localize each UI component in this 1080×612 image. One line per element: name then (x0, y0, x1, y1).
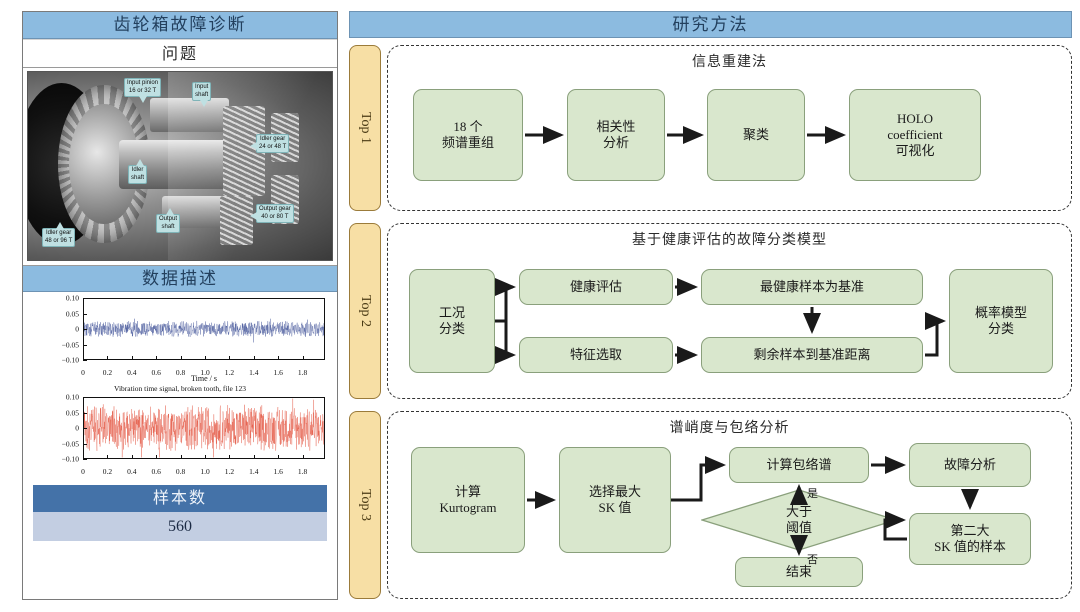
edge-label-yes: 是 (807, 485, 818, 501)
callout-tail-icon (166, 208, 174, 215)
x-tick-mark (278, 356, 279, 360)
decision-threshold[interactable]: 大于阈值 (701, 489, 897, 551)
y-tick-mark (83, 298, 87, 299)
callout-tail-icon (250, 142, 257, 150)
y-tick-label: 0.10 (66, 393, 79, 402)
node-label: 18 个频谱重组 (442, 119, 494, 151)
charts-area: 0.100.050−0.05−0.10 00.20.40.60.81.01.21… (23, 292, 337, 541)
node-label: 健康评估 (570, 279, 622, 295)
section-top-1-title: 信息重建法 (387, 51, 1072, 71)
x-tick-mark (156, 455, 157, 459)
right-panel-title: 研究方法 (349, 11, 1072, 38)
chart-vibration-blue: 0.100.050−0.05−0.10 00.20.40.60.81.01.21… (27, 294, 333, 386)
node-condition-classification[interactable]: 工况分类 (409, 269, 495, 373)
section-top-2-title: 基于健康评估的故障分类模型 (387, 229, 1072, 249)
left-panel: 齿轮箱故障诊断 问题 Input pinion16 or 32 T Inputs… (22, 11, 338, 600)
callout-idler-gear-48: Idler gear48 or 96 T (42, 228, 75, 247)
x-tick-mark (83, 455, 84, 459)
node-holo-coefficient[interactable]: HOLOcoefficient可视化 (849, 89, 981, 181)
callout-tail-icon (250, 212, 257, 220)
y-tick-mark (83, 413, 87, 414)
screenshot-root: 齿轮箱故障诊断 问题 Input pinion16 or 32 T Inputs… (0, 0, 1080, 612)
x-tick-mark (229, 356, 230, 360)
node-label: 剩余样本到基准距离 (753, 347, 870, 363)
section-top-2: Top 2 基于健康评估的故障分类模型 工况分类 健康评估 特征选取 最健康样本… (349, 223, 1072, 399)
node-label: 计算包络谱 (766, 457, 831, 473)
callout-tail-icon (139, 96, 147, 103)
y-tick-mark (83, 360, 87, 361)
node-health-assessment[interactable]: 健康评估 (519, 269, 673, 305)
x-tick-mark (181, 455, 182, 459)
badge-top-2: Top 2 (349, 223, 381, 399)
x-tick-mark (229, 455, 230, 459)
y-tick-label: 0.05 (66, 408, 79, 417)
node-correlation-analysis[interactable]: 相关性分析 (567, 89, 665, 181)
decision-threshold-label: 大于阈值 (701, 489, 897, 551)
gearbox-photo: Input pinion16 or 32 T Inputshaft Idler … (27, 71, 333, 261)
callout-output-gear-label: Output gear40 or 80 T (259, 206, 291, 220)
callout-tail-icon (56, 222, 64, 229)
x-tick-label: 1.2 (225, 467, 234, 476)
x-tick-label: 0.4 (127, 467, 136, 476)
badge-top-1: Top 1 (349, 45, 381, 211)
data-description-header: 数据描述 (23, 265, 337, 292)
x-tick-mark (205, 356, 206, 360)
callout-idler-shaft: Idlershaft (128, 165, 147, 184)
signal-trace-red (84, 398, 324, 458)
sample-count-value: 560 (33, 512, 327, 541)
callout-input-pinion-label: Input pinion16 or 32 T (127, 80, 158, 94)
y-tick-mark (83, 314, 87, 315)
chart-vibration-red: 0.100.050−0.05−0.10 00.20.40.60.81.01.21… (27, 393, 333, 481)
node-probability-model[interactable]: 概率模型分类 (949, 269, 1053, 373)
badge-top-2-label: Top 2 (357, 295, 373, 327)
y-tick-label: 0.10 (66, 294, 79, 303)
y-tick-label: −0.10 (62, 356, 79, 365)
callout-tail-icon (136, 159, 144, 166)
callout-output-gear: Output gear40 or 80 T (256, 204, 294, 223)
node-feature-selection[interactable]: 特征选取 (519, 337, 673, 373)
node-label: 最健康样本为基准 (760, 279, 864, 295)
callout-input-pinion: Input pinion16 or 32 T (124, 78, 161, 97)
callout-output-shaft: Outputshaft (156, 214, 180, 233)
node-spectrum-recombination[interactable]: 18 个频谱重组 (413, 89, 523, 181)
badge-top-3: Top 3 (349, 411, 381, 599)
callout-input-shaft-label: Inputshaft (195, 84, 208, 98)
y-tick-mark (83, 428, 87, 429)
right-panel: 研究方法 Top 1 信息重建法 18 个频谱重组 相关性分析 聚类 HOLOc… (349, 11, 1072, 600)
callout-idler-gear-24: Idler gear24 or 48 T (256, 134, 289, 153)
y-tick-label: 0 (75, 325, 79, 334)
x-tick-mark (254, 455, 255, 459)
callout-input-shaft: Inputshaft (192, 82, 211, 101)
x-tick-mark (83, 356, 84, 360)
badge-top-3-label: Top 3 (357, 489, 373, 521)
y-tick-label: −0.05 (62, 340, 79, 349)
x-tick-mark (303, 455, 304, 459)
node-label: 选择最大SK 值 (589, 484, 641, 516)
problem-section-header: 问题 (23, 39, 337, 68)
node-label: 聚类 (743, 127, 769, 143)
callout-idler-shaft-label: Idlershaft (131, 167, 144, 181)
x-axis-label-blue: Time / s (83, 374, 325, 383)
x-tick-mark (156, 356, 157, 360)
node-healthiest-baseline[interactable]: 最健康样本为基准 (701, 269, 923, 305)
x-tick-label: 1.6 (274, 467, 283, 476)
x-tick-label: 1.4 (249, 467, 258, 476)
x-tick-label: 0.2 (103, 467, 112, 476)
sample-count-header: 样本数 (33, 485, 327, 512)
section-top-3-title: 谱峭度与包络分析 (387, 417, 1072, 437)
node-label: 概率模型分类 (975, 305, 1027, 337)
node-end[interactable]: 结束 (735, 557, 863, 587)
x-tick-label: 0.6 (152, 467, 161, 476)
x-tick-label: 0 (81, 467, 85, 476)
node-label: 相关性分析 (596, 119, 635, 151)
signal-trace-blue (84, 299, 324, 359)
callout-tail-icon (200, 100, 208, 107)
y-tick-mark (83, 329, 87, 330)
node-fault-analysis[interactable]: 故障分析 (909, 443, 1031, 487)
y-tick-label: −0.05 (62, 439, 79, 448)
callout-output-shaft-label: Outputshaft (159, 216, 177, 230)
x-tick-mark (132, 455, 133, 459)
x-tick-mark (205, 455, 206, 459)
badge-top-1-label: Top 1 (357, 112, 373, 144)
x-tick-label: 1.0 (200, 467, 209, 476)
callout-idler-gear-48-label: Idler gear48 or 96 T (45, 230, 72, 244)
node-envelope-spectrum[interactable]: 计算包络谱 (729, 447, 869, 483)
y-tick-mark (83, 444, 87, 445)
chart-plot-blue (83, 298, 325, 360)
x-tick-mark (278, 455, 279, 459)
node-label: 第二大SK 值的样本 (934, 523, 1006, 555)
x-tick-mark (107, 455, 108, 459)
y-tick-label: 0.05 (66, 309, 79, 318)
node-label: 计算Kurtogram (439, 484, 496, 516)
chart-plot-red (83, 397, 325, 459)
x-tick-label: 1.8 (298, 467, 307, 476)
x-tick-mark (107, 356, 108, 360)
y-tick-mark (83, 397, 87, 398)
x-tick-mark (132, 356, 133, 360)
section-top-1: Top 1 信息重建法 18 个频谱重组 相关性分析 聚类 HOLOcoeffi… (349, 45, 1072, 211)
node-compute-kurtogram[interactable]: 计算Kurtogram (411, 447, 525, 553)
x-tick-label: 0.8 (176, 467, 185, 476)
callout-idler-gear-24-label: Idler gear24 or 48 T (259, 136, 286, 150)
node-clustering[interactable]: 聚类 (707, 89, 805, 181)
y-tick-label: −0.10 (62, 455, 79, 464)
node-label: HOLOcoefficient可视化 (887, 111, 942, 159)
sample-count-table: 样本数 560 (33, 485, 327, 541)
node-max-sk[interactable]: 选择最大SK 值 (559, 447, 671, 553)
section-top-3: Top 3 谱峭度与包络分析 计算Kurtogram 选择最大SK 值 计算包络… (349, 411, 1072, 599)
y-tick-mark (83, 345, 87, 346)
edge-label-no: 否 (807, 551, 818, 567)
x-tick-mark (303, 356, 304, 360)
node-label: 故障分析 (944, 457, 996, 473)
x-tick-mark (254, 356, 255, 360)
y-tick-label: 0 (75, 424, 79, 433)
node-second-sk-sample[interactable]: 第二大SK 值的样本 (909, 513, 1031, 565)
left-panel-title: 齿轮箱故障诊断 (23, 12, 337, 39)
x-tick-mark (181, 356, 182, 360)
node-label: 工况分类 (439, 305, 465, 337)
node-distance-to-baseline[interactable]: 剩余样本到基准距离 (701, 337, 923, 373)
y-tick-mark (83, 459, 87, 460)
node-label: 特征选取 (570, 347, 622, 363)
